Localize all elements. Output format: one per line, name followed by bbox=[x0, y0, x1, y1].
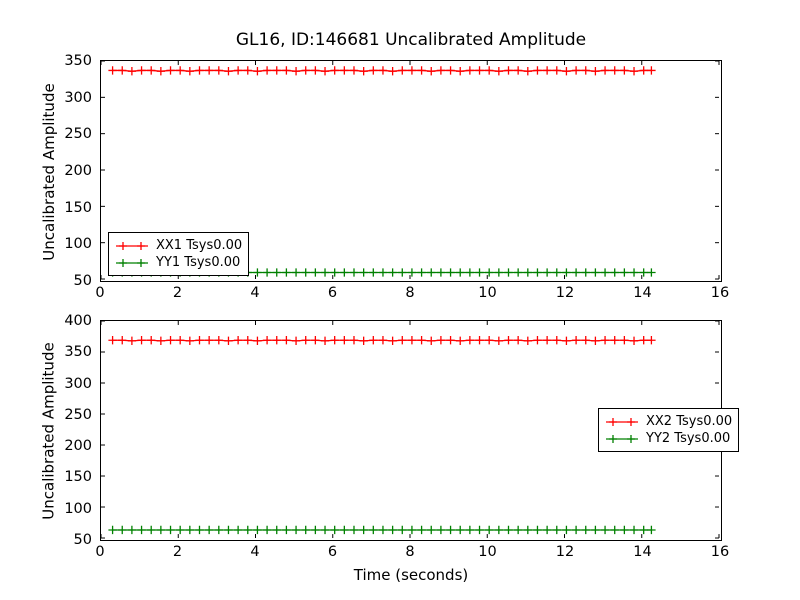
data-point-marker bbox=[611, 268, 619, 276]
data-point-marker bbox=[504, 268, 512, 276]
data-point-marker bbox=[427, 337, 435, 345]
data-series bbox=[108, 66, 655, 75]
data-point-marker bbox=[205, 66, 213, 74]
legend-marker-top-0 bbox=[115, 239, 149, 253]
data-point-marker bbox=[263, 268, 271, 276]
data-point-marker bbox=[398, 268, 406, 276]
data-point-marker bbox=[128, 67, 136, 75]
data-point-marker bbox=[524, 337, 532, 345]
data-point-marker bbox=[647, 66, 655, 74]
data-point-marker bbox=[620, 526, 628, 534]
data-point-marker bbox=[369, 66, 377, 74]
data-point-marker bbox=[330, 336, 338, 344]
data-point-marker bbox=[427, 67, 435, 75]
data-point-marker bbox=[224, 67, 232, 75]
data-point-marker bbox=[466, 336, 474, 344]
data-point-marker bbox=[437, 66, 445, 74]
data-point-marker bbox=[485, 526, 493, 534]
legend-marker-bottom-0 bbox=[605, 415, 639, 429]
data-point-marker bbox=[263, 526, 271, 534]
x-tick-label: 16 bbox=[711, 544, 729, 560]
data-point-marker bbox=[234, 526, 242, 534]
data-point-marker bbox=[350, 336, 358, 344]
data-point-marker bbox=[446, 268, 454, 276]
data-point-marker bbox=[388, 526, 396, 534]
data-point-marker bbox=[282, 268, 290, 276]
data-point-marker bbox=[408, 268, 416, 276]
data-point-marker bbox=[647, 336, 655, 344]
data-point-marker bbox=[562, 67, 570, 75]
x-tick-labels-bottom: 0246810121416 bbox=[100, 544, 722, 566]
data-point-marker bbox=[340, 336, 348, 344]
data-point-marker bbox=[475, 268, 483, 276]
y-tick-label: 250 bbox=[64, 407, 92, 423]
data-point-marker bbox=[437, 268, 445, 276]
data-point-marker bbox=[524, 526, 532, 534]
data-point-marker bbox=[417, 336, 425, 344]
data-point-marker bbox=[456, 67, 464, 75]
data-point-marker bbox=[369, 336, 377, 344]
data-point-marker bbox=[514, 66, 522, 74]
data-point-marker bbox=[553, 336, 561, 344]
data-point-marker bbox=[302, 268, 310, 276]
data-point-marker bbox=[446, 66, 454, 74]
data-point-marker bbox=[582, 526, 590, 534]
data-point-marker bbox=[495, 337, 503, 345]
data-point-marker bbox=[215, 66, 223, 74]
matplotlib-figure: GL16, ID:146681 Uncalibrated Amplitude U… bbox=[0, 0, 800, 600]
data-point-marker bbox=[205, 336, 213, 344]
data-point-marker bbox=[553, 66, 561, 74]
data-point-marker bbox=[456, 526, 464, 534]
data-point-marker bbox=[533, 66, 541, 74]
data-point-marker bbox=[417, 268, 425, 276]
y-tick-label: 150 bbox=[64, 200, 92, 216]
data-point-marker bbox=[166, 66, 174, 74]
data-point-marker bbox=[388, 268, 396, 276]
data-point-marker bbox=[379, 336, 387, 344]
data-point-marker bbox=[302, 336, 310, 344]
data-point-marker bbox=[379, 268, 387, 276]
data-point-marker bbox=[311, 526, 319, 534]
data-point-marker bbox=[302, 66, 310, 74]
data-point-marker bbox=[244, 526, 252, 534]
data-point-marker bbox=[215, 526, 223, 534]
data-point-marker bbox=[244, 66, 252, 74]
data-point-marker bbox=[157, 526, 165, 534]
data-point-marker bbox=[263, 336, 271, 344]
data-point-marker bbox=[157, 337, 165, 345]
data-point-marker bbox=[321, 526, 329, 534]
data-point-marker bbox=[137, 526, 145, 534]
data-point-marker bbox=[369, 526, 377, 534]
data-point-marker bbox=[147, 336, 155, 344]
data-point-marker bbox=[302, 526, 310, 534]
data-point-marker bbox=[215, 336, 223, 344]
data-point-marker bbox=[427, 268, 435, 276]
data-point-marker bbox=[562, 526, 570, 534]
data-point-marker bbox=[195, 66, 203, 74]
data-point-marker bbox=[611, 336, 619, 344]
data-point-marker bbox=[485, 336, 493, 344]
data-point-marker bbox=[466, 66, 474, 74]
data-point-marker bbox=[234, 336, 242, 344]
data-point-marker bbox=[495, 268, 503, 276]
legend-entry[interactable]: XX2 Tsys0.00 bbox=[605, 413, 732, 430]
y-tick-label: 100 bbox=[64, 236, 92, 252]
data-point-marker bbox=[582, 268, 590, 276]
data-point-marker bbox=[437, 336, 445, 344]
data-point-marker bbox=[630, 268, 638, 276]
data-point-marker bbox=[475, 66, 483, 74]
legend-label: YY1 Tsys0.00 bbox=[156, 255, 240, 270]
data-point-marker bbox=[446, 336, 454, 344]
data-point-marker bbox=[311, 336, 319, 344]
x-tick-label: 12 bbox=[556, 544, 574, 560]
y-tick-label: 350 bbox=[64, 344, 92, 360]
data-point-marker bbox=[630, 526, 638, 534]
data-point-marker bbox=[533, 268, 541, 276]
data-point-marker bbox=[640, 66, 648, 74]
data-point-marker bbox=[640, 268, 648, 276]
data-point-marker bbox=[340, 268, 348, 276]
data-point-marker bbox=[282, 336, 290, 344]
data-point-marker bbox=[620, 268, 628, 276]
legend-entry[interactable]: YY1 Tsys0.00 bbox=[115, 254, 242, 271]
y-tick-label: 300 bbox=[64, 376, 92, 392]
data-point-marker bbox=[611, 66, 619, 74]
data-point-marker bbox=[340, 526, 348, 534]
data-point-marker bbox=[562, 337, 570, 345]
data-point-marker bbox=[647, 268, 655, 276]
data-point-marker bbox=[630, 67, 638, 75]
data-point-marker bbox=[166, 336, 174, 344]
data-point-marker bbox=[234, 66, 242, 74]
data-point-marker bbox=[601, 526, 609, 534]
data-point-marker bbox=[640, 336, 648, 344]
legend-entry[interactable]: XX1 Tsys0.00 bbox=[115, 237, 242, 254]
data-point-marker bbox=[591, 337, 599, 345]
data-point-marker bbox=[186, 337, 194, 345]
data-point-marker bbox=[456, 268, 464, 276]
data-point-marker bbox=[273, 526, 281, 534]
data-point-marker bbox=[524, 67, 532, 75]
data-point-marker bbox=[253, 268, 261, 276]
data-point-marker bbox=[417, 526, 425, 534]
y-tick-label: 200 bbox=[64, 163, 92, 179]
y-tick-labels-top: 50100150200250300350 bbox=[30, 60, 92, 282]
y-tick-label: 250 bbox=[64, 126, 92, 142]
data-series bbox=[108, 336, 655, 345]
legend-marker-bottom-1 bbox=[605, 432, 639, 446]
x-tick-label: 2 bbox=[173, 285, 182, 301]
data-point-marker bbox=[369, 268, 377, 276]
x-tick-label: 8 bbox=[405, 285, 414, 301]
data-point-marker bbox=[253, 67, 261, 75]
data-point-marker bbox=[495, 526, 503, 534]
data-point-marker bbox=[591, 268, 599, 276]
data-point-marker bbox=[408, 526, 416, 534]
data-point-marker bbox=[282, 66, 290, 74]
legend-entry[interactable]: YY2 Tsys0.00 bbox=[605, 430, 732, 447]
x-tick-label: 6 bbox=[328, 285, 337, 301]
data-point-marker bbox=[224, 526, 232, 534]
data-point-marker bbox=[108, 336, 116, 344]
x-tick-label: 2 bbox=[173, 544, 182, 560]
data-point-marker bbox=[466, 526, 474, 534]
data-point-marker bbox=[186, 67, 194, 75]
legend-bottom[interactable]: XX2 Tsys0.00YY2 Tsys0.00 bbox=[598, 408, 739, 452]
data-point-marker bbox=[640, 526, 648, 534]
x-axis-label: Time (seconds) bbox=[100, 566, 722, 584]
data-point-marker bbox=[205, 526, 213, 534]
data-point-marker bbox=[514, 526, 522, 534]
x-tick-label: 4 bbox=[250, 285, 259, 301]
legend-label: YY2 Tsys0.00 bbox=[646, 431, 730, 446]
data-point-marker bbox=[524, 268, 532, 276]
data-point-marker bbox=[582, 66, 590, 74]
data-point-marker bbox=[118, 66, 126, 74]
x-tick-label: 8 bbox=[405, 544, 414, 560]
data-point-marker bbox=[273, 268, 281, 276]
y-tick-label: 350 bbox=[64, 53, 92, 69]
x-tick-label: 12 bbox=[556, 285, 574, 301]
data-point-marker bbox=[128, 526, 136, 534]
data-point-marker bbox=[359, 337, 367, 345]
y-tick-label: 50 bbox=[74, 532, 92, 548]
data-point-marker bbox=[620, 336, 628, 344]
data-point-marker bbox=[485, 268, 493, 276]
data-point-marker bbox=[311, 66, 319, 74]
y-tick-label: 100 bbox=[64, 501, 92, 517]
data-point-marker bbox=[321, 67, 329, 75]
legend-label: XX1 Tsys0.00 bbox=[156, 238, 242, 253]
data-point-marker bbox=[224, 337, 232, 345]
data-point-marker bbox=[330, 66, 338, 74]
data-point-marker bbox=[582, 336, 590, 344]
data-point-marker bbox=[108, 66, 116, 74]
y-tick-label: 50 bbox=[74, 273, 92, 289]
data-point-marker bbox=[466, 268, 474, 276]
data-point-marker bbox=[244, 336, 252, 344]
x-tick-labels-top: 0246810121416 bbox=[100, 285, 722, 307]
data-point-marker bbox=[118, 336, 126, 344]
data-point-marker bbox=[543, 336, 551, 344]
data-point-marker bbox=[446, 526, 454, 534]
data-point-marker bbox=[350, 268, 358, 276]
y-tick-label: 150 bbox=[64, 469, 92, 485]
data-point-marker bbox=[562, 268, 570, 276]
data-point-marker bbox=[292, 526, 300, 534]
legend-label: XX2 Tsys0.00 bbox=[646, 414, 732, 429]
x-tick-label: 6 bbox=[328, 544, 337, 560]
data-series bbox=[108, 526, 655, 534]
data-point-marker bbox=[504, 66, 512, 74]
data-point-marker bbox=[475, 526, 483, 534]
data-point-marker bbox=[611, 526, 619, 534]
data-point-marker bbox=[398, 336, 406, 344]
data-point-marker bbox=[253, 526, 261, 534]
data-point-marker bbox=[379, 66, 387, 74]
data-point-marker bbox=[359, 268, 367, 276]
data-point-marker bbox=[166, 526, 174, 534]
data-point-marker bbox=[591, 67, 599, 75]
data-point-marker bbox=[514, 336, 522, 344]
data-point-marker bbox=[321, 337, 329, 345]
data-point-marker bbox=[427, 526, 435, 534]
data-point-marker bbox=[514, 268, 522, 276]
data-point-marker bbox=[475, 336, 483, 344]
data-point-marker bbox=[553, 526, 561, 534]
data-point-marker bbox=[591, 526, 599, 534]
data-point-marker bbox=[147, 526, 155, 534]
data-point-marker bbox=[533, 526, 541, 534]
data-point-marker bbox=[572, 526, 580, 534]
y-tick-label: 300 bbox=[64, 90, 92, 106]
data-point-marker bbox=[128, 337, 136, 345]
legend-top[interactable]: XX1 Tsys0.00YY1 Tsys0.00 bbox=[108, 232, 249, 276]
data-point-marker bbox=[456, 337, 464, 345]
legend-marker-top-1 bbox=[115, 256, 149, 270]
data-point-marker bbox=[388, 337, 396, 345]
data-point-marker bbox=[330, 526, 338, 534]
data-point-marker bbox=[292, 268, 300, 276]
data-point-marker bbox=[620, 66, 628, 74]
data-point-marker bbox=[553, 268, 561, 276]
data-point-marker bbox=[176, 336, 184, 344]
data-point-marker bbox=[408, 66, 416, 74]
data-point-marker bbox=[321, 268, 329, 276]
y-tick-label: 200 bbox=[64, 438, 92, 454]
data-point-marker bbox=[601, 336, 609, 344]
y-tick-labels-bottom: 50100150200250300350400 bbox=[30, 320, 92, 541]
data-point-marker bbox=[572, 66, 580, 74]
data-point-marker bbox=[292, 67, 300, 75]
data-point-marker bbox=[408, 336, 416, 344]
data-point-marker bbox=[388, 67, 396, 75]
data-point-marker bbox=[359, 67, 367, 75]
data-point-marker bbox=[485, 66, 493, 74]
x-tick-label: 14 bbox=[633, 544, 651, 560]
data-point-marker bbox=[137, 336, 145, 344]
data-point-marker bbox=[108, 526, 116, 534]
data-point-marker bbox=[176, 66, 184, 74]
data-point-marker bbox=[350, 526, 358, 534]
data-point-marker bbox=[533, 336, 541, 344]
data-point-marker bbox=[630, 337, 638, 345]
x-tick-label: 10 bbox=[478, 285, 496, 301]
data-point-marker bbox=[311, 268, 319, 276]
data-point-marker bbox=[647, 526, 655, 534]
figure-title: GL16, ID:146681 Uncalibrated Amplitude bbox=[100, 30, 722, 50]
data-point-marker bbox=[137, 66, 145, 74]
data-point-marker bbox=[359, 526, 367, 534]
data-point-marker bbox=[543, 268, 551, 276]
data-point-marker bbox=[601, 268, 609, 276]
x-tick-label: 0 bbox=[95, 544, 104, 560]
data-point-marker bbox=[543, 66, 551, 74]
x-tick-label: 4 bbox=[250, 544, 259, 560]
data-point-marker bbox=[292, 337, 300, 345]
x-tick-label: 14 bbox=[633, 285, 651, 301]
data-point-marker bbox=[118, 526, 126, 534]
data-point-marker bbox=[282, 526, 290, 534]
x-tick-label: 10 bbox=[478, 544, 496, 560]
data-point-marker bbox=[195, 336, 203, 344]
data-point-marker bbox=[273, 66, 281, 74]
data-point-marker bbox=[330, 268, 338, 276]
data-point-marker bbox=[417, 66, 425, 74]
y-tick-label: 400 bbox=[64, 313, 92, 329]
data-point-marker bbox=[350, 66, 358, 74]
data-point-marker bbox=[340, 66, 348, 74]
data-point-marker bbox=[437, 526, 445, 534]
x-tick-label: 16 bbox=[711, 285, 729, 301]
data-point-marker bbox=[253, 337, 261, 345]
data-point-marker bbox=[398, 66, 406, 74]
data-point-marker bbox=[504, 526, 512, 534]
data-point-marker bbox=[572, 268, 580, 276]
data-point-marker bbox=[504, 336, 512, 344]
data-point-marker bbox=[601, 66, 609, 74]
data-point-marker bbox=[273, 336, 281, 344]
data-point-marker bbox=[379, 526, 387, 534]
data-point-marker bbox=[398, 526, 406, 534]
data-point-marker bbox=[263, 66, 271, 74]
data-point-marker bbox=[195, 526, 203, 534]
data-point-marker bbox=[543, 526, 551, 534]
data-point-marker bbox=[572, 336, 580, 344]
x-tick-label: 0 bbox=[95, 285, 104, 301]
data-point-marker bbox=[495, 67, 503, 75]
data-point-marker bbox=[157, 67, 165, 75]
data-point-marker bbox=[147, 66, 155, 74]
data-point-marker bbox=[186, 526, 194, 534]
data-point-marker bbox=[176, 526, 184, 534]
